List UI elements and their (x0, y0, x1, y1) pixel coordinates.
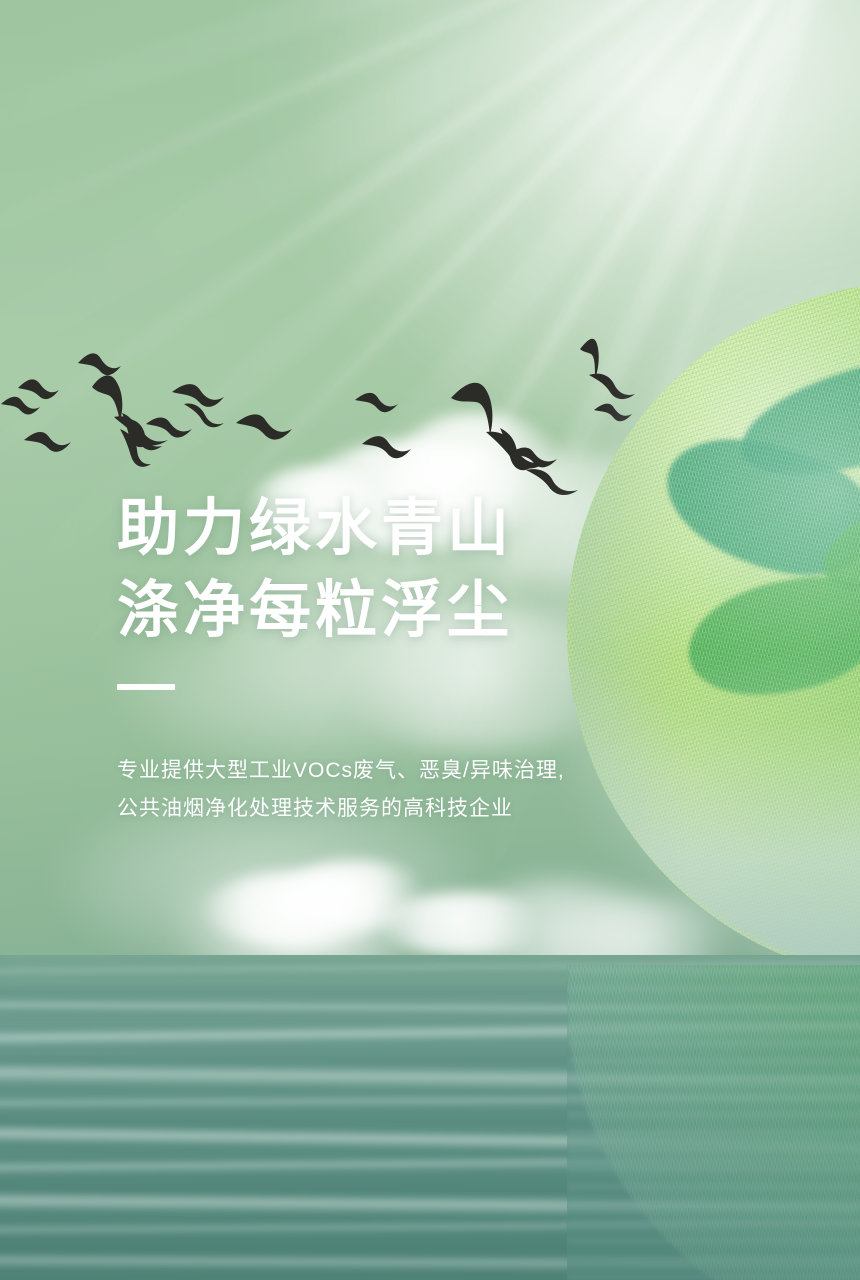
title-divider (117, 684, 175, 690)
page-title-line2: 涤净每粒浮尘 (117, 570, 677, 652)
subtitle-line1: 专业提供大型工业VOCs废气、恶臭/异味治理, (117, 752, 677, 790)
water-ripples-icon (0, 955, 860, 1280)
hero-copy-block: 助力绿水青山 涤净每粒浮尘 专业提供大型工业VOCs废气、恶臭/异味治理, 公共… (117, 488, 677, 828)
subtitle-line2: 公共油烟净化处理技术服务的高科技企业 (117, 790, 677, 828)
page-title-line1: 助力绿水青山 (117, 488, 677, 570)
environmental-hero-banner: 助力绿水青山 涤净每粒浮尘 专业提供大型工业VOCs废气、恶臭/异味治理, 公共… (0, 0, 860, 1280)
flying-birds-icon (0, 0, 860, 520)
